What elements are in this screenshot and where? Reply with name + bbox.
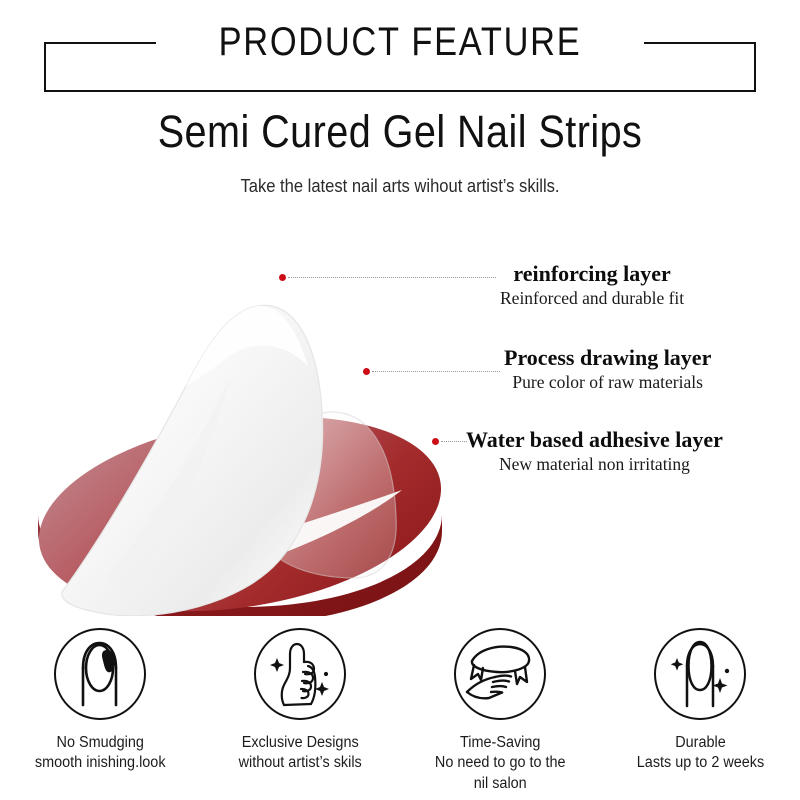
feature-item-exclusive-designs: Exclusive Designs without artist’s skils bbox=[200, 628, 400, 800]
feature-caption: No Smudging smooth inishing.look bbox=[35, 733, 166, 774]
feature-caption-line: Exclusive Designs bbox=[238, 733, 361, 753]
feature-caption-line: without artist’s skils bbox=[238, 753, 361, 773]
feature-item-durable: Durable Lasts up to 2 weeks bbox=[600, 628, 800, 800]
callout-leader-adhesive bbox=[441, 441, 467, 442]
feature-caption: Durable Lasts up to 2 weeks bbox=[636, 733, 763, 774]
callout-description: Pure color of raw materials bbox=[504, 371, 711, 394]
feature-caption-line: nil salon bbox=[435, 774, 566, 794]
nail-no-smudge-icon bbox=[54, 628, 146, 720]
feature-item-no-smudging: No Smudging smooth inishing.look bbox=[0, 628, 200, 800]
callout-title: Water based adhesive layer bbox=[466, 428, 723, 453]
feature-caption: Time-Saving No need to go to the nil sal… bbox=[435, 733, 566, 794]
feature-caption: Exclusive Designs without artist’s skils bbox=[238, 733, 361, 774]
header: PRODUCT FEATURE Semi Cured Gel Nail Stri… bbox=[0, 0, 800, 215]
callout-leader-process-drawing bbox=[372, 371, 500, 372]
callout-dot-reinforcing bbox=[279, 274, 286, 281]
callout-dot-adhesive bbox=[432, 438, 439, 445]
long-nail-sparkle-icon bbox=[654, 628, 746, 720]
feature-caption-line: Time-Saving bbox=[435, 733, 566, 753]
hand-sparkle-design-icon bbox=[254, 628, 346, 720]
eyebrow-title: PRODUCT FEATURE bbox=[56, 20, 744, 65]
page-title: Semi Cured Gel Nail Strips bbox=[48, 106, 752, 158]
callout-leader-reinforcing bbox=[288, 277, 496, 278]
feature-caption-line: Lasts up to 2 weeks bbox=[636, 753, 763, 773]
page-subtitle: Take the latest nail arts wihout artist’… bbox=[32, 176, 768, 197]
callout-process-drawing-layer: Process drawing layer Pure color of raw … bbox=[504, 346, 711, 393]
callout-adhesive-layer: Water based adhesive layer New material … bbox=[466, 428, 723, 475]
feature-list: No Smudging smooth inishing.look bbox=[0, 628, 800, 800]
callout-reinforcing-layer: reinforcing layer Reinforced and durable… bbox=[500, 262, 684, 309]
feature-item-time-saving: Time-Saving No need to go to the nil sal… bbox=[400, 628, 600, 800]
feature-caption-line: smooth inishing.look bbox=[35, 753, 166, 773]
product-feature-infographic: PRODUCT FEATURE Semi Cured Gel Nail Stri… bbox=[0, 0, 800, 800]
callout-dot-process-drawing bbox=[363, 368, 370, 375]
callout-title: reinforcing layer bbox=[500, 262, 684, 287]
callout-description: New material non irritating bbox=[466, 453, 723, 476]
callout-description: Reinforced and durable fit bbox=[500, 287, 684, 310]
feature-caption-line: No need to go to the bbox=[435, 753, 566, 773]
uv-lamp-hand-icon bbox=[454, 628, 546, 720]
feature-caption-line: Durable bbox=[636, 733, 763, 753]
layered-nail-strip-diagram bbox=[10, 226, 480, 616]
callout-title: Process drawing layer bbox=[504, 346, 711, 371]
feature-caption-line: No Smudging bbox=[35, 733, 166, 753]
